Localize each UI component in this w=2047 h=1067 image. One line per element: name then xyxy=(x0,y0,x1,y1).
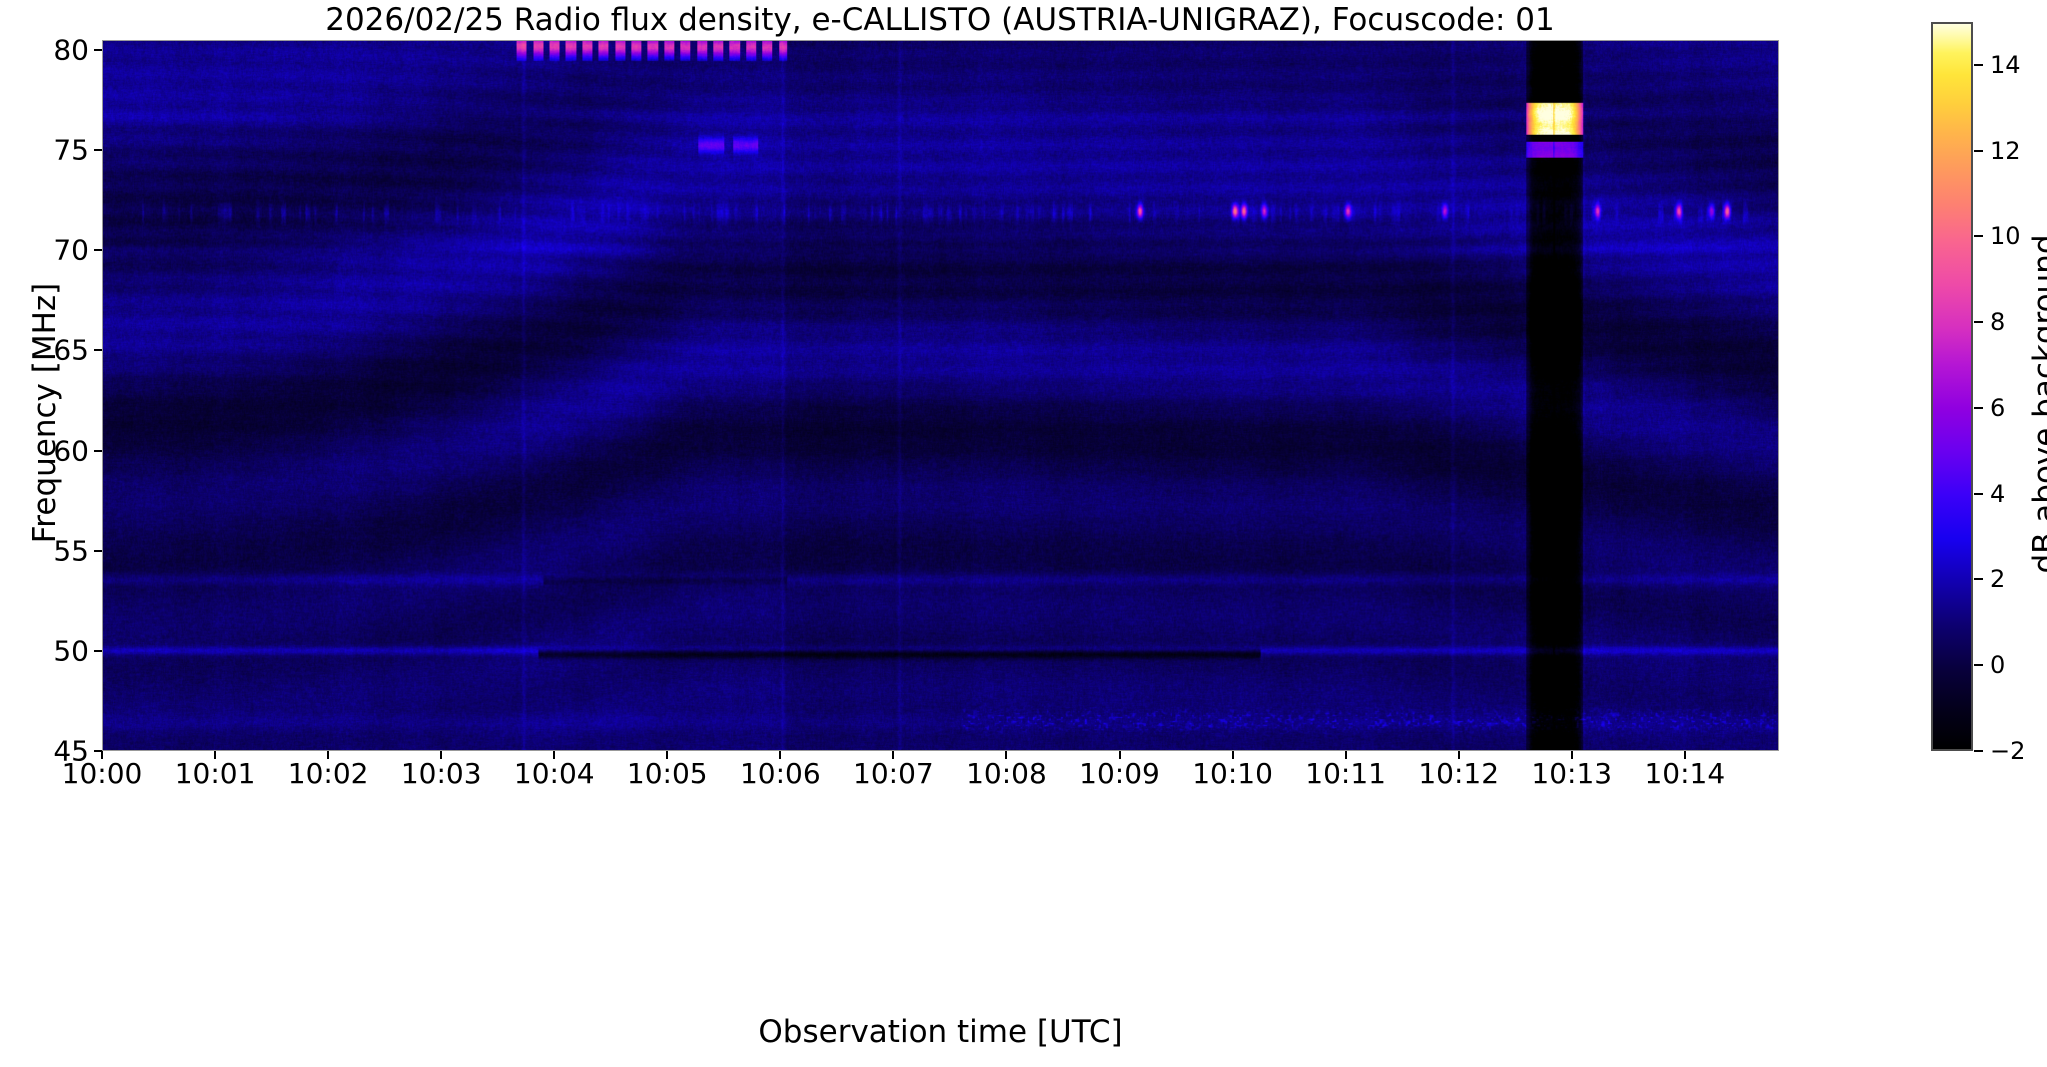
colorbar-tick-mark xyxy=(1974,150,1983,152)
colorbar-tick-mark xyxy=(1974,321,1983,323)
x-tick-label: 10:03 xyxy=(401,757,482,790)
x-tick-mark xyxy=(1005,751,1007,759)
x-axis-label: Observation time [UTC] xyxy=(102,1014,1779,1050)
x-tick-mark xyxy=(440,751,442,759)
colorbar-tick-label: 10 xyxy=(1990,222,2021,250)
x-tick-label: 10:07 xyxy=(853,757,934,790)
colorbar-tick-label: 14 xyxy=(1990,51,2021,79)
y-tick-label: 50 xyxy=(53,634,89,667)
y-tick-mark xyxy=(94,249,102,251)
colorbar-tick-mark xyxy=(1974,578,1983,580)
spectrogram-image xyxy=(103,41,1778,750)
colorbar-label: dB above background xyxy=(2027,94,2047,714)
y-tick-mark xyxy=(94,349,102,351)
x-tick-mark xyxy=(779,751,781,759)
y-tick-mark xyxy=(94,450,102,452)
x-tick-label: 10:13 xyxy=(1531,757,1612,790)
y-tick-label: 75 xyxy=(53,134,89,167)
y-tick-mark xyxy=(94,650,102,652)
x-tick-mark xyxy=(1458,751,1460,759)
colorbar-tick-label: 4 xyxy=(1990,480,2005,508)
x-tick-mark xyxy=(666,751,668,759)
x-tick-label: 10:12 xyxy=(1418,757,1499,790)
colorbar-tick-label: −2 xyxy=(1990,737,2025,765)
y-tick-label: 80 xyxy=(53,34,89,67)
colorbar-tick-label: 6 xyxy=(1990,394,2005,422)
colorbar-tick-mark xyxy=(1974,235,1983,237)
colorbar-tick-label: 8 xyxy=(1990,308,2005,336)
y-tick-mark xyxy=(94,149,102,151)
y-tick-mark xyxy=(94,550,102,552)
spectrogram-plot-area[interactable] xyxy=(102,40,1779,751)
x-tick-mark xyxy=(553,751,555,759)
colorbar[interactable] xyxy=(1931,22,1973,751)
x-tick-mark xyxy=(327,751,329,759)
x-tick-label: 10:05 xyxy=(627,757,708,790)
spectrogram-figure: 2026/02/25 Radio flux density, e-CALLIST… xyxy=(0,0,2047,1067)
y-tick-label: 55 xyxy=(53,534,89,567)
colorbar-tick-mark xyxy=(1974,64,1983,66)
page-title: 2026/02/25 Radio flux density, e-CALLIST… xyxy=(0,2,1880,38)
colorbar-tick-label: 0 xyxy=(1990,651,2005,679)
y-tick-mark xyxy=(94,49,102,51)
colorbar-tick-mark xyxy=(1974,750,1983,752)
x-tick-mark xyxy=(1571,751,1573,759)
x-tick-label: 10:04 xyxy=(514,757,595,790)
colorbar-tick-mark xyxy=(1974,407,1983,409)
x-tick-label: 10:11 xyxy=(1305,757,1386,790)
y-tick-label: 65 xyxy=(53,334,89,367)
x-tick-label: 10:09 xyxy=(1079,757,1160,790)
colorbar-tick-label: 12 xyxy=(1990,137,2021,165)
x-tick-label: 10:10 xyxy=(1192,757,1273,790)
colorbar-gradient xyxy=(1933,24,1971,749)
colorbar-tick-mark xyxy=(1974,493,1983,495)
y-tick-label: 60 xyxy=(53,434,89,467)
x-tick-mark xyxy=(1684,751,1686,759)
x-tick-label: 10:14 xyxy=(1644,757,1725,790)
x-tick-mark xyxy=(892,751,894,759)
x-tick-mark xyxy=(214,751,216,759)
x-tick-label: 10:02 xyxy=(288,757,369,790)
x-tick-label: 10:01 xyxy=(175,757,256,790)
x-tick-mark xyxy=(1345,751,1347,759)
y-tick-label: 70 xyxy=(53,234,89,267)
x-tick-label: 10:08 xyxy=(966,757,1047,790)
x-tick-label: 10:06 xyxy=(740,757,821,790)
y-axis-label: Frequency [MHz] xyxy=(27,103,63,723)
colorbar-tick-label: 2 xyxy=(1990,565,2005,593)
x-tick-label: 10:00 xyxy=(62,757,143,790)
x-tick-mark xyxy=(1232,751,1234,759)
x-tick-mark xyxy=(101,751,103,759)
colorbar-tick-mark xyxy=(1974,664,1983,666)
x-tick-mark xyxy=(1119,751,1121,759)
